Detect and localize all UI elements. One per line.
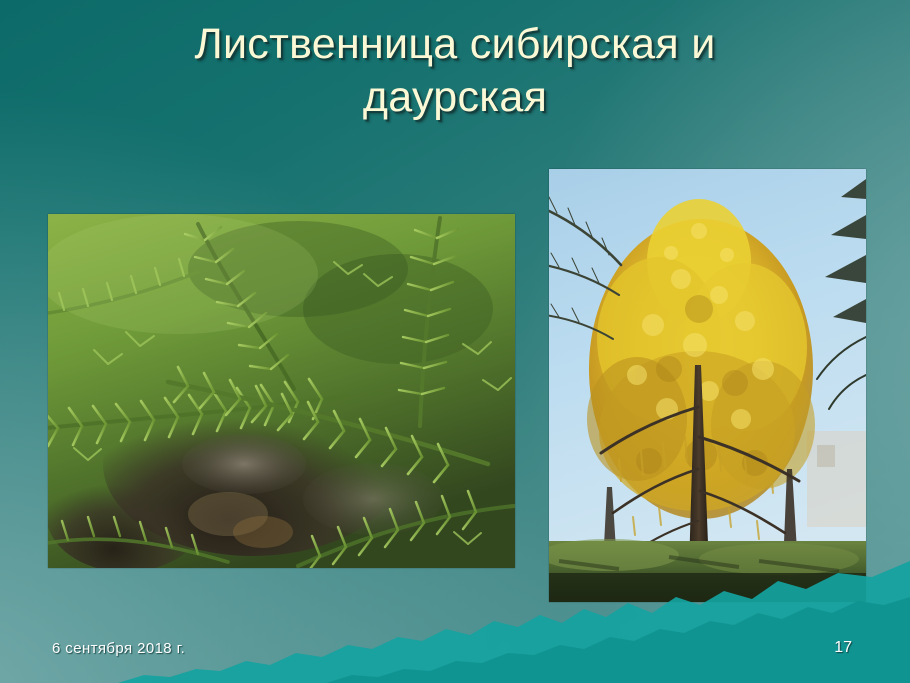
siberian-larch-illustration [48, 214, 515, 568]
slide-title: Лиственница сибирская и даурская [0, 18, 910, 125]
image-siberian-larch-branches [48, 214, 515, 568]
slide-title-line-1: Лиственница сибирская и [0, 18, 910, 71]
dahurian-larch-illustration [549, 169, 866, 602]
slide-page-number: 17 [834, 639, 852, 657]
slide-title-line-2: даурская [0, 71, 910, 124]
image-dahurian-larch-autumn [549, 169, 866, 602]
slide-date: 6 сентября 2018 г. [52, 640, 185, 657]
presentation-slide: Лиственница сибирская и даурская [0, 0, 910, 683]
